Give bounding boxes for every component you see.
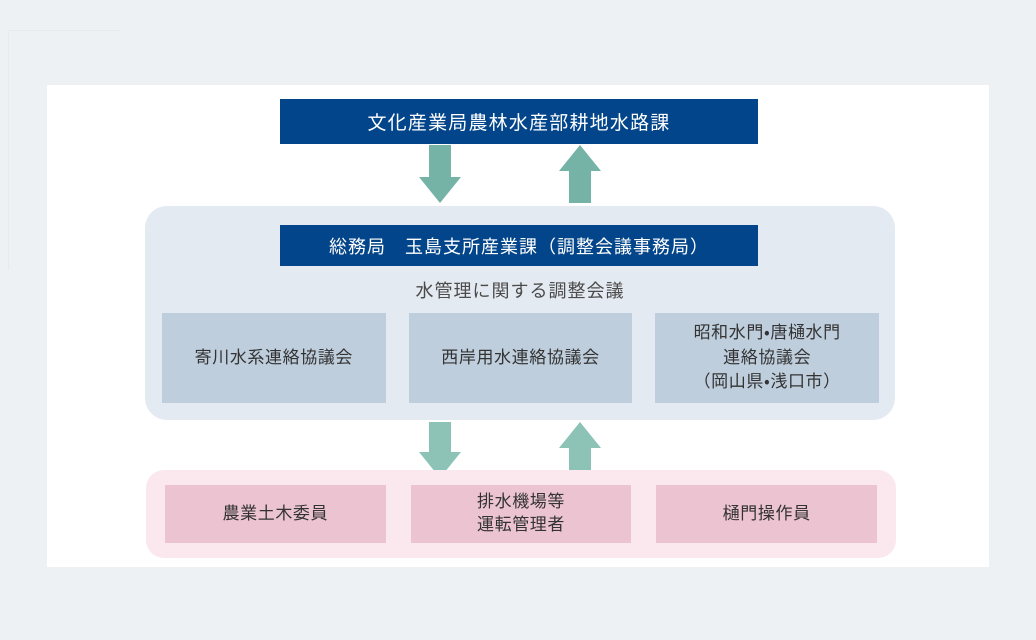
arrow-head	[559, 145, 601, 171]
secretariat-label: 総務局 玉島支所産業課（調整会議事務局）	[329, 233, 709, 259]
operator-box-line: 運転管理者	[477, 514, 565, 537]
council-box-line: 昭和水門・唐樋水門	[694, 321, 841, 346]
coordination-meeting-panel: 総務局 玉島支所産業課（調整会議事務局） 水管理に関する調整会議 寄川水系連絡協…	[145, 206, 895, 420]
coordination-meeting-title: 水管理に関する調整会議	[145, 277, 895, 303]
council-box-row: 寄川水系連絡協議会 西岸用水連絡協議会 昭和水門・唐樋水門 連絡協議会 （岡山県…	[162, 313, 879, 403]
operator-box: 排水機場等 運転管理者	[411, 485, 632, 543]
secretariat-bar: 総務局 玉島支所産業課（調整会議事務局）	[280, 225, 758, 266]
council-box-line: 西岸用水連絡協議会	[441, 346, 599, 371]
arrow-head	[559, 422, 601, 448]
background-guide-line-vertical	[8, 30, 9, 270]
top-authority-bar: 文化産業局農林水産部耕地水路課	[280, 99, 758, 144]
operator-box: 農業土木委員	[165, 485, 386, 543]
diagram-card: 文化産業局農林水産部耕地水路課 総務局 玉島支所産業課（調整会議事務局） 水管理…	[47, 85, 989, 567]
council-box-line: 連絡協議会	[723, 346, 811, 371]
council-box: 寄川水系連絡協議会	[162, 313, 386, 403]
operator-box-line: 排水機場等	[477, 491, 565, 514]
council-box-line: （岡山県・浅口市）	[694, 370, 841, 395]
council-box-line: 寄川水系連絡協議会	[195, 346, 353, 371]
operator-box-line: 農業土木委員	[223, 503, 329, 526]
operator-box-line: 樋門操作員	[723, 503, 811, 526]
arrow-shaft	[429, 422, 451, 452]
arrow-head	[419, 177, 461, 203]
arrow-shaft	[569, 171, 591, 203]
top-authority-label: 文化産業局農林水産部耕地水路課	[367, 108, 670, 135]
arrow-shaft	[429, 145, 451, 177]
council-box: 昭和水門・唐樋水門 連絡協議会 （岡山県・浅口市）	[655, 313, 879, 403]
background-guide-line-horizontal	[8, 30, 120, 31]
council-box: 西岸用水連絡協議会	[409, 313, 633, 403]
operator-box-row: 農業土木委員 排水機場等 運転管理者 樋門操作員	[165, 485, 877, 543]
operator-box: 樋門操作員	[656, 485, 877, 543]
operators-panel: 農業土木委員 排水機場等 運転管理者 樋門操作員	[146, 470, 896, 558]
